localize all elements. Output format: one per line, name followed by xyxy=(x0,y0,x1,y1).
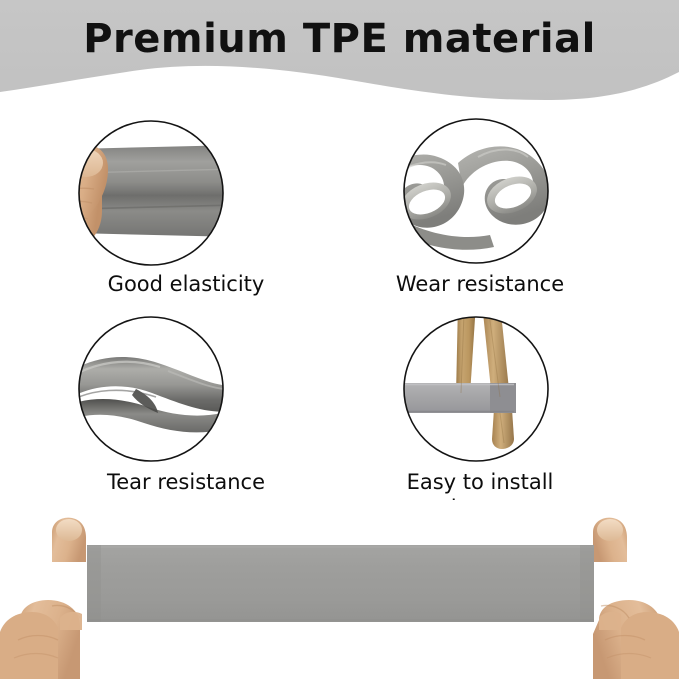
caption-line-1: Tear resistance xyxy=(107,470,265,494)
feature-caption-tear-resistance: Tear resistance xyxy=(36,469,336,495)
feature-item-good-elasticity: Good elasticity xyxy=(36,115,336,297)
caption-line-1: Easy to install xyxy=(407,470,554,494)
caption-line-1: Wear resistance xyxy=(396,272,564,296)
feature-image-easy-to-install xyxy=(330,313,630,465)
product-infographic: Premium TPE material xyxy=(0,0,679,679)
product-photo-hands-stretching-band xyxy=(0,500,679,679)
feature-image-wear-resistance xyxy=(330,115,630,267)
feature-item-tear-resistance: Tear resistance xyxy=(36,313,336,495)
feature-caption-good-elasticity: Good elasticity xyxy=(36,271,336,297)
feature-item-easy-to-install: Easy to install and remove xyxy=(330,313,630,521)
feature-item-wear-resistance: Wear resistance xyxy=(330,115,630,297)
page-title: Premium TPE material xyxy=(0,14,679,64)
feature-caption-wear-resistance: Wear resistance xyxy=(330,271,630,297)
feature-image-tear-resistance xyxy=(36,313,336,465)
feature-image-good-elasticity xyxy=(36,115,336,267)
feature-grid: Good elasticity xyxy=(0,115,679,515)
caption-line-1: Good elasticity xyxy=(108,272,265,296)
